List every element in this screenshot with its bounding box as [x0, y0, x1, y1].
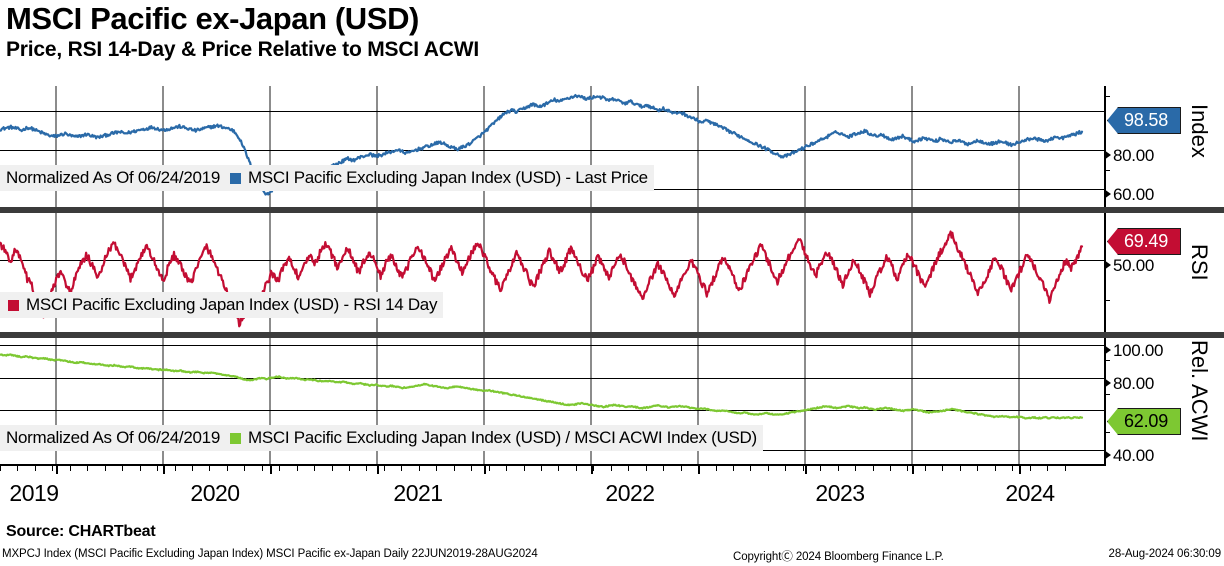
x-axis-minor-tick: [506, 466, 507, 471]
legend-price-series: MSCI Pacific Excluding Japan Index (USD)…: [248, 168, 648, 188]
x-axis-label-2020: 2020: [190, 480, 239, 507]
x-axis-minor-tick: [663, 466, 664, 471]
x-axis-minor-tick: [838, 466, 839, 471]
rsi-minor-tick-low: [1104, 300, 1110, 301]
price-minor-tick-top: [1104, 96, 1110, 97]
x-axis-minor-tick: [436, 466, 437, 471]
x-axis-minor-tick: [750, 466, 751, 471]
x-axis-minor-tick: [524, 466, 525, 471]
x-axis-minor-tick: [646, 466, 647, 471]
x-axis-minor-tick: [541, 466, 542, 471]
price-minor-tick-mid: [1104, 170, 1110, 171]
x-axis-minor-tick: [262, 466, 263, 471]
footer-timestamp: 28-Aug-2024 06:30:09: [1109, 548, 1221, 560]
price-last-value-badge: 98.58: [1107, 107, 1181, 134]
relative-tick-arrow-100: [1104, 345, 1111, 355]
x-axis-label-2023: 2023: [815, 480, 864, 507]
relative-minor-tick-b: [1104, 394, 1110, 395]
x-axis-tick: [912, 466, 914, 474]
x-axis-label-2021: 2021: [393, 480, 442, 507]
x-axis-label-2019: 2019: [9, 480, 58, 507]
x-axis-minor-tick: [401, 466, 402, 471]
legend-price-swatch-icon: [230, 173, 241, 184]
x-axis-minor-tick: [17, 466, 18, 471]
legend-price: Normalized As Of 06/24/2019 MSCI Pacific…: [0, 165, 654, 191]
rsi-axis-spine: [1104, 213, 1106, 332]
x-axis-minor-tick: [768, 466, 769, 471]
relative-tick-arrow-40: [1104, 450, 1111, 460]
x-axis-minor-tick: [349, 466, 350, 471]
x-axis-minor-tick: [332, 466, 333, 471]
source-label: Source: CHARTbeat: [6, 523, 156, 541]
x-axis-minor-tick: [628, 466, 629, 471]
x-axis-minor-tick: [925, 466, 926, 471]
price-tick-arrow-60: [1104, 189, 1111, 199]
x-axis-minor-tick: [87, 466, 88, 471]
relative-ytick-100: 100.00: [1113, 342, 1163, 359]
x-axis-label-2022: 2022: [605, 480, 654, 507]
x-axis: 201920202021202220232024: [0, 466, 1224, 516]
relative-minor-tick-a: [1104, 360, 1110, 361]
legend-price-note: Normalized As Of 06/24/2019: [6, 168, 220, 188]
x-axis-minor-tick: [52, 466, 53, 471]
legend-relative-note: Normalized As Of 06/24/2019: [6, 428, 220, 448]
price-ytick-80: 80.00: [1113, 147, 1154, 164]
x-axis-minor-tick: [576, 466, 577, 471]
rsi-tick-arrow-50: [1104, 260, 1111, 270]
x-axis-minor-tick: [122, 466, 123, 471]
x-axis-minor-tick: [384, 466, 385, 471]
x-axis-minor-tick: [279, 466, 280, 471]
chart-page: MSCI Pacific ex-Japan (USD) Price, RSI 1…: [0, 0, 1224, 566]
x-axis-minor-tick: [244, 466, 245, 471]
relative-tick-arrow-80: [1104, 378, 1111, 388]
relative-ytick-80: 80.00: [1113, 375, 1154, 392]
x-axis-minor-tick: [960, 466, 961, 471]
legend-relative: Normalized As Of 06/24/2019 MSCI Pacific…: [0, 425, 763, 451]
x-axis-minor-tick: [855, 466, 856, 471]
x-axis-minor-tick: [366, 466, 367, 471]
x-axis-minor-tick: [803, 466, 804, 471]
page-title: MSCI Pacific ex-Japan (USD): [6, 2, 419, 36]
relative-minor-tick-c: [1104, 432, 1110, 433]
relative-axis-spine: [1104, 338, 1106, 466]
legend-relative-swatch-icon: [230, 433, 241, 444]
rsi-ytick-50: 50.00: [1113, 257, 1154, 274]
legend-rsi: MSCI Pacific Excluding Japan Index (USD)…: [0, 292, 443, 318]
x-axis-minor-tick: [157, 466, 158, 471]
x-axis-tick: [56, 466, 58, 474]
footer-ticker-line: MXPCJ Index (MSCI Pacific Excluding Japa…: [2, 548, 538, 560]
x-axis-label-2024: 2024: [1005, 480, 1054, 507]
relative-last-value-badge: 62.09: [1107, 408, 1181, 435]
x-axis-tick: [1019, 466, 1021, 474]
legend-relative-series: MSCI Pacific Excluding Japan Index (USD)…: [248, 428, 757, 448]
footer-copyright: CopyrightⒸ 2024 Bloomberg Finance L.P.: [733, 548, 944, 564]
x-axis-minor-tick: [105, 466, 106, 471]
x-axis-minor-tick: [192, 466, 193, 471]
x-axis-minor-tick: [471, 466, 472, 471]
rsi-axis-title: RSI: [1186, 244, 1212, 281]
x-axis-tick: [163, 466, 165, 474]
relative-axis-title: Rel. ACWI: [1186, 340, 1212, 441]
x-axis-minor-tick: [1065, 466, 1066, 471]
x-axis-minor-tick: [1047, 466, 1048, 471]
x-axis-minor-tick: [593, 466, 594, 471]
x-axis-minor-tick: [297, 466, 298, 471]
x-axis-minor-tick: [70, 466, 71, 471]
rsi-last-value-badge: 69.49: [1107, 228, 1181, 255]
x-axis-minor-tick: [873, 466, 874, 471]
x-axis-minor-tick: [890, 466, 891, 471]
x-axis-minor-tick: [611, 466, 612, 471]
x-axis-minor-tick: [820, 466, 821, 471]
x-axis-minor-tick: [977, 466, 978, 471]
x-axis-minor-tick: [785, 466, 786, 471]
page-subtitle: Price, RSI 14-Day & Price Relative to MS…: [6, 38, 479, 62]
price-tick-arrow-80: [1104, 150, 1111, 160]
legend-rsi-series: MSCI Pacific Excluding Japan Index (USD)…: [26, 295, 437, 315]
x-axis-tick: [805, 466, 807, 474]
x-axis-minor-tick: [681, 466, 682, 471]
x-axis-minor-tick: [733, 466, 734, 471]
x-axis-tick: [270, 466, 272, 474]
price-axis-title: Index: [1186, 104, 1212, 158]
x-axis-minor-tick: [175, 466, 176, 471]
price-ytick-60: 60.00: [1113, 186, 1154, 203]
x-axis-tick: [698, 466, 700, 474]
x-axis-minor-tick: [227, 466, 228, 471]
x-axis-minor-tick: [140, 466, 141, 471]
relative-ytick-40: 40.00: [1113, 447, 1154, 464]
x-axis-tick: [484, 466, 486, 474]
x-axis-minor-tick: [0, 466, 1, 471]
x-axis-minor-tick: [942, 466, 943, 471]
x-axis-tick: [377, 466, 379, 474]
x-axis-minor-tick: [1012, 466, 1013, 471]
x-axis-minor-tick: [35, 466, 36, 471]
x-axis-minor-tick: [995, 466, 996, 471]
legend-rsi-swatch-icon: [8, 300, 19, 311]
x-axis-minor-tick: [209, 466, 210, 471]
x-axis-minor-tick: [907, 466, 908, 471]
x-axis-minor-tick: [1030, 466, 1031, 471]
x-axis-minor-tick: [314, 466, 315, 471]
x-axis-minor-tick: [419, 466, 420, 471]
x-axis-minor-tick: [489, 466, 490, 471]
x-axis-minor-tick: [454, 466, 455, 471]
x-axis-minor-tick: [558, 466, 559, 471]
x-axis-minor-tick: [716, 466, 717, 471]
